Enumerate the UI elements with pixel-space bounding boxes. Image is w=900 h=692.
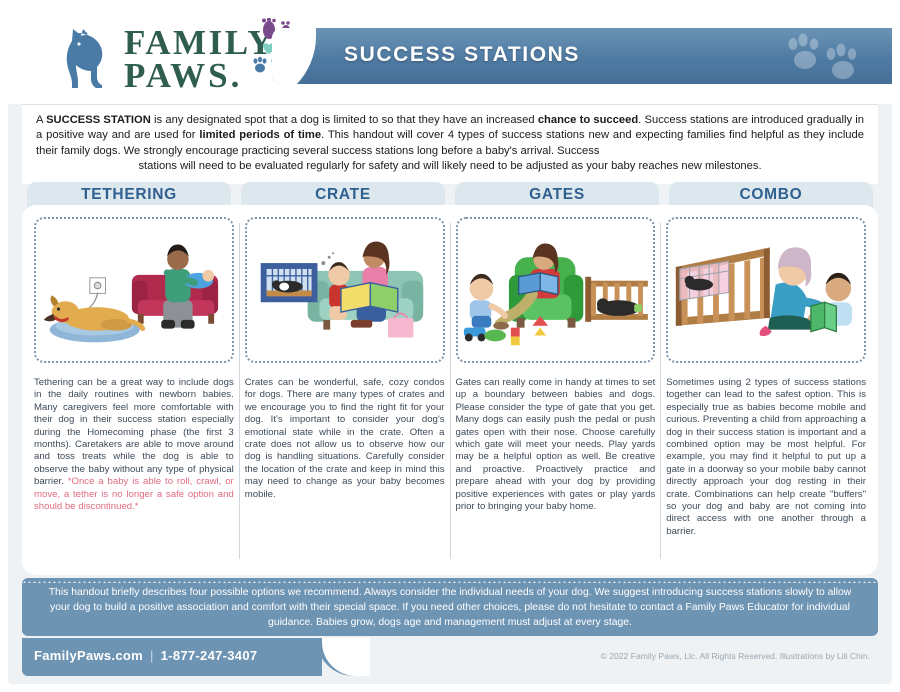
gates-body: Gates can really come in handy at times …: [456, 377, 656, 513]
footer-website[interactable]: FamilyPaws.com: [34, 648, 143, 663]
footer-separator: |: [150, 648, 154, 663]
tethering-body: Tethering can be a great way to include …: [34, 377, 234, 513]
combo-scene-icon: [668, 219, 864, 361]
column-divider: [239, 223, 240, 559]
intro-bold-1: SUCCESS STATION: [46, 114, 151, 126]
combo-body: Sometimes using 2 types of success stati…: [666, 377, 866, 538]
crate-body: Crates can be wonderful, safe, cozy cond…: [245, 377, 445, 501]
column-divider: [660, 223, 661, 559]
page-title: SUCCESS STATIONS: [344, 43, 580, 67]
intro-text-2: is any designated spot that a dog is lim…: [151, 114, 538, 126]
brand-logo[interactable]: FAMILY PAWS.: [58, 26, 275, 93]
column-crate: Crates can be wonderful, safe, cozy cond…: [245, 217, 445, 565]
content-card: Tethering can be a great way to include …: [22, 205, 878, 575]
crate-illustration: [245, 217, 445, 363]
footer-copyright: © 2022 Family Paws, Llc. All Rights Rese…: [600, 651, 870, 661]
paw-print-icon: [254, 57, 267, 73]
header-title-bar: SUCCESS STATIONS: [272, 28, 892, 84]
sitting-dog-silhouette-icon: [58, 27, 114, 91]
combo-illustration: [666, 217, 866, 363]
intro-text-5: stations will need to be evaluated regul…: [36, 159, 864, 174]
gates-scene-icon: [458, 219, 654, 361]
page-header: FAMILY PAWS.: [8, 8, 892, 104]
bottom-note: This handout briefly describes four poss…: [22, 578, 878, 636]
column-combo: Sometimes using 2 types of success stati…: [666, 217, 866, 565]
tethering-illustration: [34, 217, 234, 363]
crate-body-text: Crates can be wonderful, safe, cozy cond…: [245, 377, 445, 500]
paw-prints-decoration-icon: [777, 32, 872, 84]
intro-text-1: A: [36, 114, 46, 126]
footer-phone[interactable]: 1-877-247-3407: [161, 648, 258, 663]
gates-illustration: [456, 217, 656, 363]
column-divider: [450, 223, 451, 559]
tethering-scene-icon: [36, 219, 232, 361]
combo-body-text: Sometimes using 2 types of success stati…: [666, 377, 866, 537]
column-tethering: Tethering can be a great way to include …: [34, 217, 234, 565]
intro-bold-3: limited periods of time: [199, 129, 321, 141]
bottom-note-text: This handout briefly describes four poss…: [49, 587, 852, 628]
footer-contact: FamilyPaws.com|1-877-247-3407: [34, 648, 257, 663]
page-footer: FamilyPaws.com|1-877-247-3407 © 2022 Fam…: [22, 638, 878, 676]
handout-page: FAMILY PAWS.: [0, 0, 900, 692]
column-gates: Gates can really come in handy at times …: [456, 217, 656, 565]
footer-curve-shape: [322, 638, 370, 676]
dotted-rule: [22, 581, 878, 583]
gates-body-text: Gates can really come in handy at times …: [456, 377, 656, 512]
tethering-body-text: Tethering can be a great way to include …: [34, 377, 234, 487]
intro-paragraph: A SUCCESS STATION is any designated spot…: [22, 104, 878, 184]
crate-scene-icon: [247, 219, 443, 361]
intro-bold-2: chance to succeed: [538, 114, 638, 126]
